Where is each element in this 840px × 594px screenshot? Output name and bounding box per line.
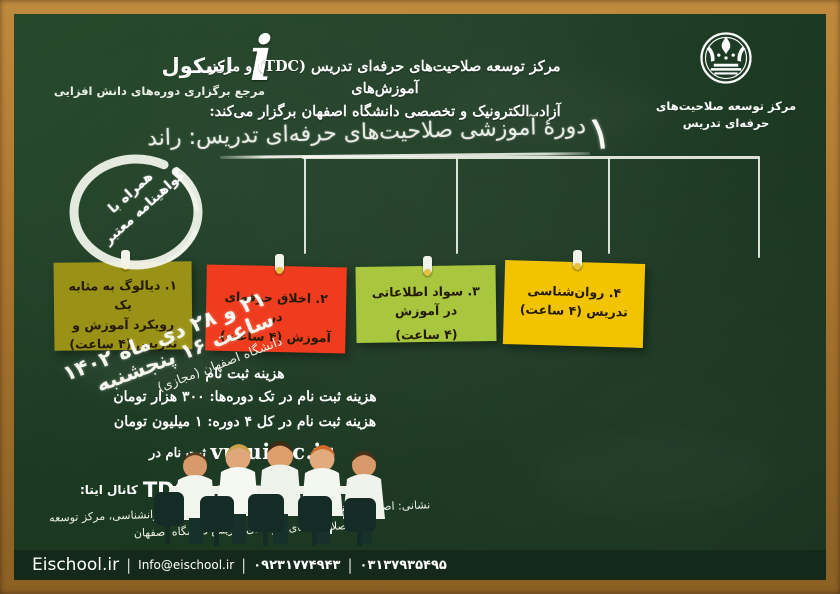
course-title: دورۀ آموزشی صلاحیت‌های حرفه‌ای تدریس: را… [147, 114, 587, 151]
footer-site[interactable]: Eischool.ir [32, 555, 119, 575]
university-caption: مرکز توسعه صلاحیت‌های حرفه‌ای تدریس [642, 98, 810, 131]
footer-email[interactable]: Info@eischool.ir [138, 558, 234, 572]
connector-line-4 [304, 158, 306, 254]
footer-phone-2: ۰۳۱۳۷۹۳۵۴۹۵ [360, 558, 447, 573]
connector-rail [302, 156, 760, 159]
university-caption-line2: حرفه‌ای تدریس [642, 115, 810, 132]
course-card-4-line2: تدریس (۴ ساعت) [516, 300, 632, 323]
fee-bundle: هزینه ثبت نام در کل ۴ دوره: ۱ میلیون توم… [80, 412, 410, 433]
course-card-4[interactable]: ۴. روان‌شناسی تدریس (۴ ساعت) [503, 260, 645, 348]
fee-heading: هزینه ثبت نام [80, 366, 410, 382]
course-card-3[interactable]: ۳. سواد اطلاعاتی در آموزش (۴ ساعت) [355, 265, 496, 343]
pin-icon [275, 254, 284, 272]
pin-icon [573, 250, 582, 268]
pin-icon [423, 256, 432, 274]
footer-bar: Eischool.ir | Info@eischool.ir | ۰۹۲۳۱۷۷… [14, 550, 826, 580]
university-caption-line1: مرکز توسعه صلاحیت‌های [642, 98, 810, 115]
connector-line-3 [456, 158, 458, 254]
connector-line-1 [758, 158, 760, 258]
chalk-smudge [534, 434, 774, 514]
university-logo-block: مرکز توسعه صلاحیت‌های حرفه‌ای تدریس [642, 22, 810, 131]
footer-separator: | [241, 556, 246, 574]
course-card-3-line2: (۴ ساعت) [368, 324, 484, 345]
connector-line-2 [608, 158, 610, 254]
fee-single: هزینه ثبت نام در تک دوره‌ها: ۳۰۰ هزار تو… [80, 387, 410, 408]
footer-separator: | [347, 556, 352, 574]
poster-root: i اسکول مرجع برگزاری دوره‌های دانش افزای… [0, 0, 840, 594]
meeting-illustration [140, 432, 430, 552]
course-card-3-line1: ۳. سواد اطلاعاتی در آموزش [368, 281, 485, 321]
channel-label: کانال ایتا: [80, 483, 138, 497]
course-card-1-line1: ۱. دیالوگ به مثابه یک [66, 275, 180, 315]
footer-phone-1: ۰۹۲۳۱۷۷۴۹۴۳ [253, 558, 340, 573]
headline-line1: مرکز توسعه صلاحیت‌های حرفه‌ای تدریس (TDC… [175, 56, 595, 101]
isfahan-university-seal-icon [690, 22, 762, 94]
certificate-badge: همراه با گواهینامه معتبر [56, 148, 216, 278]
footer-separator: | [126, 556, 131, 574]
